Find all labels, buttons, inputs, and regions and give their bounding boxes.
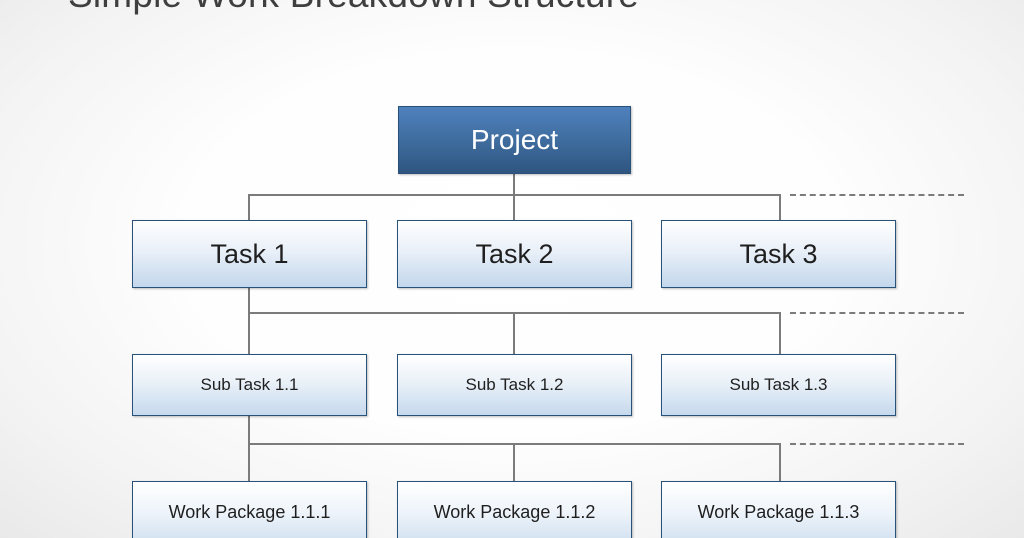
page-title: Simple Work Breakdown Structure [68, 0, 639, 16]
slide-canvas: Simple Work Breakdown Structure Project … [0, 0, 1024, 538]
node-subtask-1-3[interactable]: Sub Task 1.3 [661, 354, 896, 416]
node-project-label: Project [471, 124, 558, 156]
connector-subtask1-up [248, 312, 250, 355]
connector-level3-bus-dashed [790, 443, 964, 445]
node-task-3-label: Task 3 [739, 239, 817, 270]
connector-level2-bus-dashed [790, 312, 964, 314]
connector-subtask3-up [779, 312, 781, 355]
connector-wp1-up [248, 443, 250, 481]
node-task-2[interactable]: Task 2 [397, 220, 632, 288]
node-project[interactable]: Project [398, 106, 631, 174]
node-task-2-label: Task 2 [475, 239, 553, 270]
node-subtask-1-1[interactable]: Sub Task 1.1 [132, 354, 367, 416]
node-work-package-1-1-1[interactable]: Work Package 1.1.1 [132, 481, 367, 538]
connector-level1-bus-dashed [790, 194, 964, 196]
connector-subtask2-up [513, 312, 515, 355]
node-task-1-label: Task 1 [210, 239, 288, 270]
node-work-package-1-1-2-label: Work Package 1.1.2 [434, 502, 596, 523]
connector-task1-up [248, 194, 250, 220]
node-task-1[interactable]: Task 1 [132, 220, 367, 288]
node-task-3[interactable]: Task 3 [661, 220, 896, 288]
node-subtask-1-1-label: Sub Task 1.1 [201, 375, 299, 395]
connector-project-down [513, 173, 515, 196]
connector-task1-down [248, 287, 250, 313]
node-work-package-1-1-3[interactable]: Work Package 1.1.3 [661, 481, 896, 538]
node-subtask-1-2-label: Sub Task 1.2 [466, 375, 564, 395]
node-work-package-1-1-2[interactable]: Work Package 1.1.2 [397, 481, 632, 538]
node-work-package-1-1-3-label: Work Package 1.1.3 [698, 502, 860, 523]
connector-wp3-up [779, 443, 781, 481]
connector-wp2-up [513, 443, 515, 481]
node-work-package-1-1-1-label: Work Package 1.1.1 [169, 502, 331, 523]
connector-task3-up [779, 194, 781, 220]
node-subtask-1-2[interactable]: Sub Task 1.2 [397, 354, 632, 416]
connector-task2-up [513, 194, 515, 220]
connector-subtask1-down [248, 415, 250, 444]
node-subtask-1-3-label: Sub Task 1.3 [730, 375, 828, 395]
